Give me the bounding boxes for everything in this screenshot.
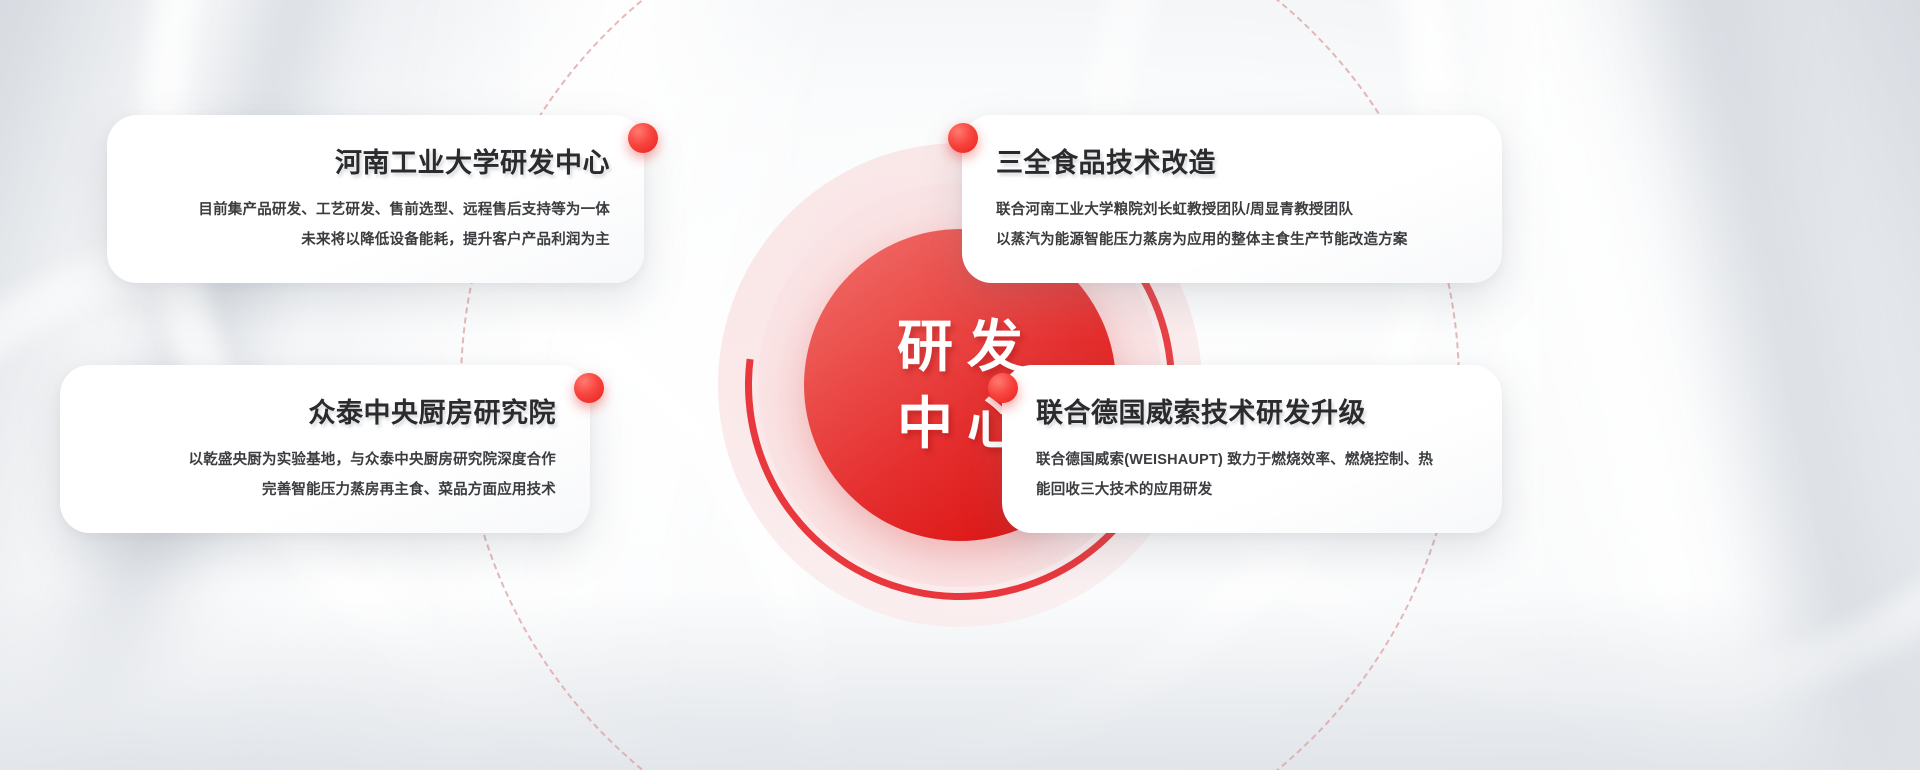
card-body-line: 完善智能压力蒸房再主食、菜品方面应用技术 bbox=[94, 476, 556, 506]
card-title: 三全食品技术改造 bbox=[996, 141, 1468, 180]
card-title: 联合德国威索技术研发升级 bbox=[1036, 391, 1468, 430]
card-body-line: 联合德国威索(WEISHAUPT) 致力于燃烧效率、燃烧控制、热 bbox=[1036, 446, 1468, 476]
card-body-line: 目前集产品研发、工艺研发、售前选型、远程售后支持等为一体 bbox=[141, 196, 610, 226]
card-top-left[interactable]: 河南工业大学研发中心 目前集产品研发、工艺研发、售前选型、远程售后支持等为一体 … bbox=[107, 115, 644, 283]
card-bottom-right[interactable]: 联合德国威索技术研发升级 联合德国威索(WEISHAUPT) 致力于燃烧效率、燃… bbox=[1002, 365, 1502, 533]
card-title: 河南工业大学研发中心 bbox=[141, 141, 610, 180]
card-body-line: 能回收三大技术的应用研发 bbox=[1036, 476, 1468, 506]
card-title: 众泰中央厨房研究院 bbox=[94, 391, 556, 430]
rd-center-infographic: 研发 中心 河南工业大学研发中心 目前集产品研发、工艺研发、售前选型、远程售后支… bbox=[0, 0, 1920, 770]
card-body-line: 未来将以降低设备能耗，提升客户产品利润为主 bbox=[141, 226, 610, 256]
card-bottom-left[interactable]: 众泰中央厨房研究院 以乾盛央厨为实验基地，与众泰中央厨房研究院深度合作 完善智能… bbox=[60, 365, 590, 533]
card-body-line: 联合河南工业大学粮院刘长虹教授团队/周显青教授团队 bbox=[996, 196, 1468, 226]
card-body-line: 以蒸汽为能源智能压力蒸房为应用的整体主食生产节能改造方案 bbox=[996, 226, 1468, 256]
card-top-right[interactable]: 三全食品技术改造 联合河南工业大学粮院刘长虹教授团队/周显青教授团队 以蒸汽为能… bbox=[962, 115, 1502, 283]
card-dot-top-left-card bbox=[628, 123, 658, 153]
card-body-line: 以乾盛央厨为实验基地，与众泰中央厨房研究院深度合作 bbox=[94, 446, 556, 476]
card-dot-top-right-card bbox=[948, 123, 978, 153]
card-dot-bottom-right-card bbox=[988, 373, 1018, 403]
card-dot-bottom-left-card bbox=[574, 373, 604, 403]
